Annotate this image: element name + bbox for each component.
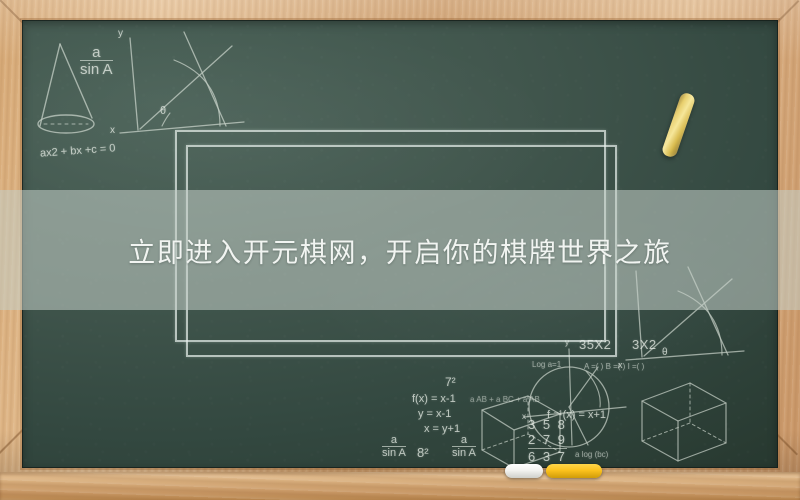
white-chalk-piece [505, 464, 543, 478]
chalkboard-banner: a sin A ax2 + bx +c = 0 y x θ [0, 0, 800, 500]
yellow-chalk-piece [546, 464, 602, 478]
chalk-ledge [0, 472, 800, 500]
headline-text: 立即进入开元棋网，开启你的棋牌世界之旅 [0, 190, 800, 310]
